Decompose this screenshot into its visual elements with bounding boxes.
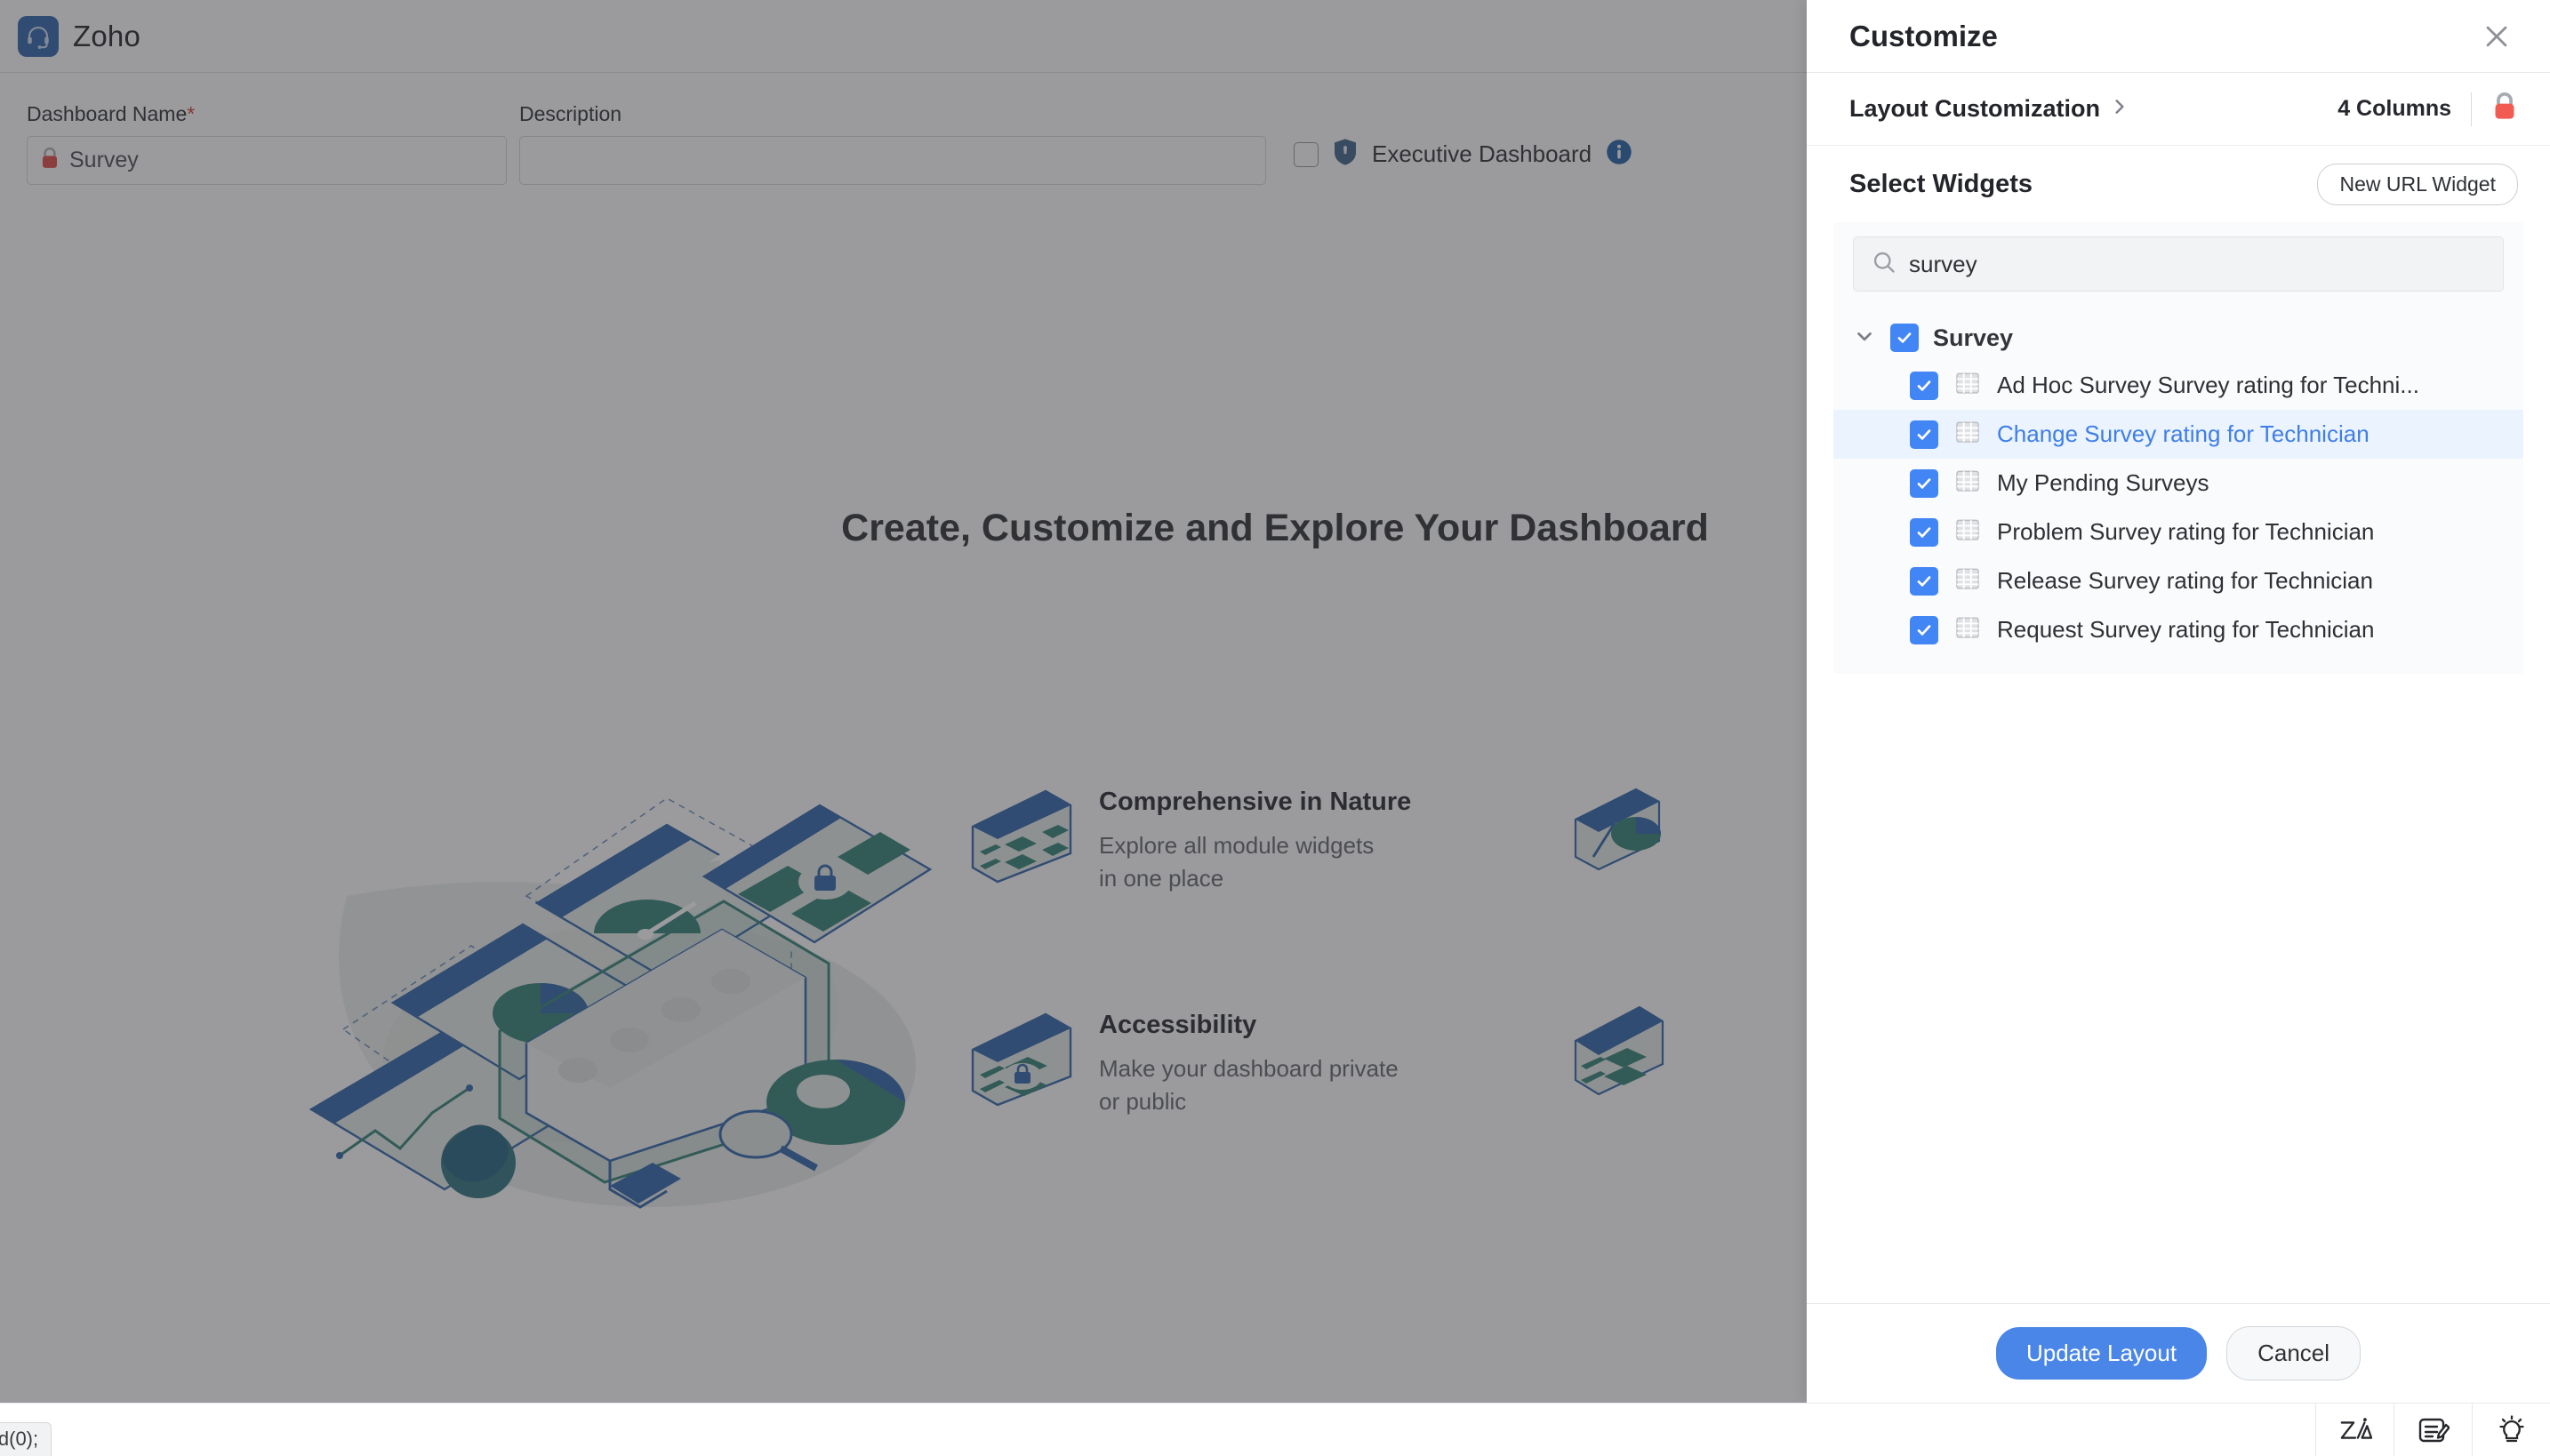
search-icon	[1872, 250, 1896, 279]
zia-icon[interactable]	[2315, 1404, 2394, 1456]
modal-scrim[interactable]	[0, 0, 1807, 1403]
widget-item-checkbox[interactable]	[1910, 420, 1938, 449]
widgets-list-container: Survey Ad Hoc Survey Survey rating for T…	[1833, 222, 2523, 674]
widget-item-label: Problem Survey rating for Technician	[1997, 518, 2374, 546]
widget-item-label: Change Survey rating for Technician	[1997, 420, 2370, 448]
close-icon[interactable]	[2475, 15, 2518, 58]
table-widget-icon	[1955, 615, 1980, 644]
widget-item-label: My Pending Surveys	[1997, 469, 2209, 497]
widget-group-label: Survey	[1933, 324, 2013, 352]
columns-value: 4 Columns	[2337, 96, 2451, 122]
panel-header: Customize	[1807, 0, 2550, 73]
table-widget-icon	[1955, 371, 1980, 400]
table-widget-icon	[1955, 566, 1980, 596]
customize-panel: Customize Layout Customization 4 Columns	[1807, 0, 2550, 1403]
widget-list-item[interactable]: My Pending Surveys	[1833, 459, 2523, 508]
widget-tree: Survey Ad Hoc Survey Survey rating for T…	[1833, 315, 2523, 654]
table-widget-icon	[1955, 468, 1980, 498]
chevron-down-icon[interactable]	[1853, 324, 1876, 352]
widget-item-label: Release Survey rating for Technician	[1997, 567, 2373, 595]
screen: Zoho Dashboard Name* Survey Description	[0, 0, 2550, 1456]
link-status-text: id(0);	[0, 1422, 52, 1456]
update-layout-button[interactable]: Update Layout	[1996, 1327, 2207, 1380]
select-widgets-header: Select Widgets New URL Widget	[1807, 146, 2550, 222]
widget-search-input[interactable]	[1909, 251, 2485, 278]
widget-group-survey[interactable]: Survey	[1833, 315, 2523, 361]
widget-list-item[interactable]: Request Survey rating for Technician	[1833, 605, 2523, 654]
widget-item-checkbox[interactable]	[1910, 567, 1938, 596]
widget-item-label: Request Survey rating for Technician	[1997, 616, 2374, 644]
lock-icon[interactable]	[2491, 92, 2518, 126]
widget-list-item[interactable]: Release Survey rating for Technician	[1833, 556, 2523, 605]
widget-group-checkbox[interactable]	[1890, 324, 1919, 352]
widget-item-checkbox[interactable]	[1910, 616, 1938, 644]
lightbulb-icon[interactable]	[2472, 1404, 2550, 1456]
browser-statusbar: id(0);	[0, 1403, 2550, 1456]
widget-list-item[interactable]: Change Survey rating for Technician	[1833, 410, 2523, 459]
widget-item-label: Ad Hoc Survey Survey rating for Techni..…	[1997, 372, 2419, 399]
widget-search-box[interactable]	[1853, 236, 2504, 292]
layout-customization-label: Layout Customization	[1849, 95, 2100, 123]
widget-search-wrap	[1833, 236, 2523, 292]
panel-title: Customize	[1849, 20, 2475, 53]
cancel-button[interactable]: Cancel	[2226, 1326, 2361, 1380]
widget-list-item[interactable]: Problem Survey rating for Technician	[1833, 508, 2523, 556]
panel-footer: Update Layout Cancel	[1807, 1303, 2550, 1403]
layout-columns-group: 4 Columns	[2337, 92, 2518, 126]
widget-item-checkbox[interactable]	[1910, 372, 1938, 400]
layout-customization-trigger[interactable]: Layout Customization	[1849, 95, 2337, 123]
new-url-widget-button[interactable]: New URL Widget	[2317, 164, 2518, 205]
widget-list-item[interactable]: Ad Hoc Survey Survey rating for Techni..…	[1833, 361, 2523, 410]
chevron-right-icon	[2111, 97, 2129, 121]
table-widget-icon	[1955, 517, 1980, 547]
notes-edit-icon[interactable]	[2394, 1404, 2472, 1456]
select-widgets-title: Select Widgets	[1849, 170, 2317, 199]
layout-customization-row[interactable]: Layout Customization 4 Columns	[1807, 73, 2550, 146]
divider	[2471, 92, 2472, 126]
panel-spacer	[1807, 674, 2550, 1303]
widget-item-checkbox[interactable]	[1910, 469, 1938, 498]
widget-item-checkbox[interactable]	[1910, 518, 1938, 547]
table-widget-icon	[1955, 420, 1980, 449]
